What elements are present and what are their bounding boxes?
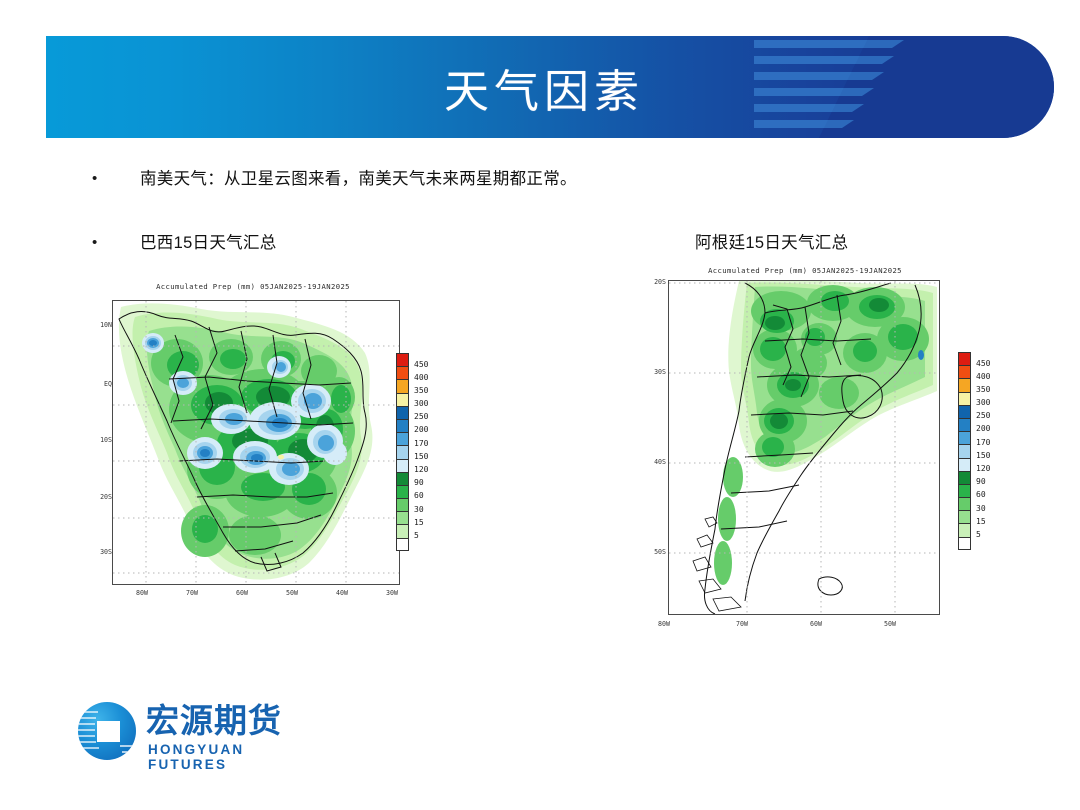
argentina-colorbar-swatch: 90: [958, 471, 971, 484]
brazil-colorbar-swatch: 15: [396, 511, 409, 524]
bullet-item-weather-summary: • 南美天气：从卫星云图来看，南美天气未来两星期都正常。: [92, 168, 577, 190]
argentina-colorbar-swatch: 400: [958, 365, 971, 378]
bullet-text: 巴西15日天气汇总: [140, 232, 277, 254]
brazil-colorbar-swatch: 350: [396, 379, 409, 392]
brazil-map-plot-area: [112, 300, 400, 585]
brazil-chart-title: Accumulated Prep (mm) 05JAN2025-19JAN202…: [108, 282, 398, 291]
brazil-colorbar-label: 350: [414, 386, 428, 395]
argentina-colorbar-swatch: 170: [958, 431, 971, 444]
argentina-colorbar-label: 5: [976, 530, 981, 539]
brazil-colorbar-swatch: 170: [396, 432, 409, 445]
argentina-ytick-0: 20S: [644, 278, 666, 286]
brazil-colorbar-swatch: 400: [396, 366, 409, 379]
argentina-colorbar-swatch: 60: [958, 484, 971, 497]
title-banner: 天气因素: [46, 36, 1054, 138]
bullet-item-brazil-label: • 巴西15日天气汇总: [92, 232, 277, 254]
argentina-heading: 阿根廷15日天气汇总: [695, 232, 848, 254]
brazil-colorbar-label: 200: [414, 425, 428, 434]
brazil-colorbar: 450400350300250200170150120906030155: [396, 353, 409, 551]
brazil-colorbar-swatch: [396, 538, 409, 551]
argentina-colorbar-swatch: 250: [958, 405, 971, 418]
brazil-colorbar-swatch: 120: [396, 459, 409, 472]
bullet-marker-icon: •: [92, 168, 108, 190]
brazil-colorbar-label: 5: [414, 531, 419, 540]
brazil-xtick-4: 40W: [336, 589, 348, 597]
brazil-colorbar-swatch: 150: [396, 445, 409, 458]
brazil-colorbar-swatch: 60: [396, 485, 409, 498]
brazil-colorbar-swatch: 250: [396, 406, 409, 419]
brazil-colorbar-label: 300: [414, 399, 428, 408]
argentina-colorbar-label: 400: [976, 372, 990, 381]
brazil-xtick-1: 70W: [186, 589, 198, 597]
brazil-colorbar-label: 15: [414, 518, 424, 527]
argentina-colorbar-swatch: 200: [958, 418, 971, 431]
brazil-ytick-0: 10N: [90, 321, 112, 329]
brazil-colorbar-swatch: 30: [396, 498, 409, 511]
brazil-colorbar-label: 30: [414, 505, 424, 514]
argentina-colorbar-swatch: 5: [958, 523, 971, 536]
brazil-colorbar-label: 400: [414, 373, 428, 382]
argentina-colorbar: 450400350300250200170150120906030155: [958, 352, 971, 550]
argentina-colorbar-label: 150: [976, 451, 990, 460]
argentina-chart-title: Accumulated Prep (mm) 05JAN2025-19JAN202…: [660, 266, 950, 275]
logo-square-icon: [97, 721, 120, 742]
brazil-ytick-2: 10S: [90, 436, 112, 444]
argentina-colorbar-label: 170: [976, 438, 990, 447]
brazil-colorbar-swatch: 300: [396, 393, 409, 406]
brazil-colorbar-swatch: 200: [396, 419, 409, 432]
argentina-colorbar-swatch: 120: [958, 458, 971, 471]
argentina-colorbar-label: 90: [976, 477, 986, 486]
argentina-xtick-3: 50W: [884, 620, 896, 628]
bullet-text: 南美天气：从卫星云图来看，南美天气未来两星期都正常。: [140, 168, 577, 190]
argentina-xtick-0: 80W: [658, 620, 670, 628]
brazil-colorbar-label: 150: [414, 452, 428, 461]
brazil-xtick-3: 50W: [286, 589, 298, 597]
argentina-colorbar-swatch: 350: [958, 378, 971, 391]
brazil-colorbar-label: 450: [414, 360, 428, 369]
company-logo: 宏源期货 HONGYUAN FUTURES: [78, 700, 328, 762]
argentina-ytick-2: 40S: [644, 458, 666, 466]
argentina-colorbar-label: 350: [976, 385, 990, 394]
argentina-precip-figure: Accumulated Prep (mm) 05JAN2025-19JAN202…: [640, 264, 1015, 644]
page-title: 天气因素: [46, 36, 1054, 138]
logo-chinese-name: 宏源期货: [146, 702, 282, 740]
brazil-ytick-1: EQ: [90, 380, 112, 388]
argentina-ytick-1: 30S: [644, 368, 666, 376]
argentina-colorbar-swatch: 150: [958, 444, 971, 457]
argentina-colorbar-label: 120: [976, 464, 990, 473]
argentina-colorbar-label: 60: [976, 490, 986, 499]
argentina-xtick-1: 70W: [736, 620, 748, 628]
brazil-colorbar-label: 170: [414, 439, 428, 448]
brazil-colorbar-label: 120: [414, 465, 428, 474]
brazil-ytick-3: 20S: [90, 493, 112, 501]
brazil-ytick-4: 30S: [90, 548, 112, 556]
brazil-xtick-5: 30W: [386, 589, 398, 597]
brazil-colorbar-label: 60: [414, 491, 424, 500]
logo-english-name: HONGYUAN FUTURES: [148, 742, 328, 772]
argentina-colorbar-swatch: 450: [958, 352, 971, 365]
argentina-colorbar-swatch: 300: [958, 392, 971, 405]
argentina-colorbar-label: 30: [976, 504, 986, 513]
argentina-colorbar-swatch: 15: [958, 510, 971, 523]
logo-circle-icon: [78, 702, 136, 760]
brazil-xtick-0: 80W: [136, 589, 148, 597]
argentina-xtick-2: 60W: [810, 620, 822, 628]
brazil-xtick-2: 60W: [236, 589, 248, 597]
argentina-colorbar-label: 450: [976, 359, 990, 368]
bullet-marker-icon: •: [92, 232, 108, 254]
argentina-colorbar-swatch: [958, 537, 971, 550]
brazil-colorbar-swatch: 5: [396, 524, 409, 537]
argentina-colorbar-label: 300: [976, 398, 990, 407]
argentina-colorbar-swatch: 30: [958, 497, 971, 510]
argentina-map-plot-area: [668, 280, 940, 615]
argentina-colorbar-label: 15: [976, 517, 986, 526]
brazil-colorbar-swatch: 450: [396, 353, 409, 366]
brazil-colorbar-label: 250: [414, 412, 428, 421]
argentina-ytick-3: 50S: [644, 548, 666, 556]
argentina-colorbar-label: 250: [976, 411, 990, 420]
slide-root: 天气因素 • 南美天气：从卫星云图来看，南美天气未来两星期都正常。 • 巴西15…: [0, 0, 1080, 810]
argentina-colorbar-label: 200: [976, 424, 990, 433]
brazil-colorbar-label: 90: [414, 478, 424, 487]
brazil-colorbar-swatch: 90: [396, 472, 409, 485]
brazil-precip-figure: Accumulated Prep (mm) 05JAN2025-19JAN202…: [100, 280, 440, 615]
